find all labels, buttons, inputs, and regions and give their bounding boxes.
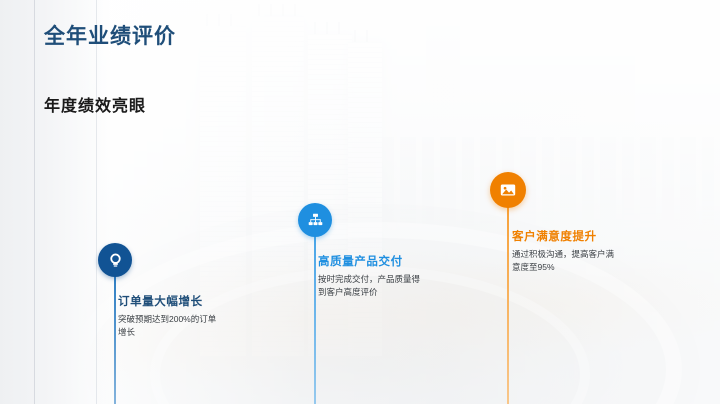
background-left-divider-secondary (96, 0, 97, 404)
heading-group: 全年业绩评价 (44, 24, 176, 49)
milestone-description: 通过积极沟通，提高客户满意度至95% (512, 248, 616, 274)
background-left-band (0, 0, 110, 404)
page-subtitle: 年度绩效亮眼 (44, 92, 146, 116)
milestone-title: 客户满意度提升 (512, 228, 597, 244)
image-icon (499, 181, 517, 199)
milestone-description: 突破预期达到200%的订单增长 (118, 313, 222, 339)
milestone-connector-line (114, 275, 116, 404)
background-photo (0, 0, 720, 404)
page-title: 全年业绩评价 (44, 24, 176, 49)
milestone-connector-line (314, 235, 316, 404)
milestone-title: 订单量大幅增长 (118, 293, 203, 309)
lightbulb-icon (107, 252, 124, 269)
sitemap-icon (307, 212, 324, 229)
slide-canvas: 全年业绩评价 年度绩效亮眼 订单量大幅增长 突破预期达到200%的订单增长 (0, 0, 720, 404)
milestone-marker[interactable] (490, 172, 526, 208)
milestone-title: 高质量产品交付 (318, 253, 403, 269)
milestone-connector-line (507, 206, 509, 404)
milestone-description: 按时完成交付，产品质量得到客户高度评价 (318, 273, 422, 299)
milestone-marker[interactable] (298, 203, 332, 237)
milestone-marker[interactable] (98, 243, 132, 277)
background-left-divider (34, 0, 35, 404)
